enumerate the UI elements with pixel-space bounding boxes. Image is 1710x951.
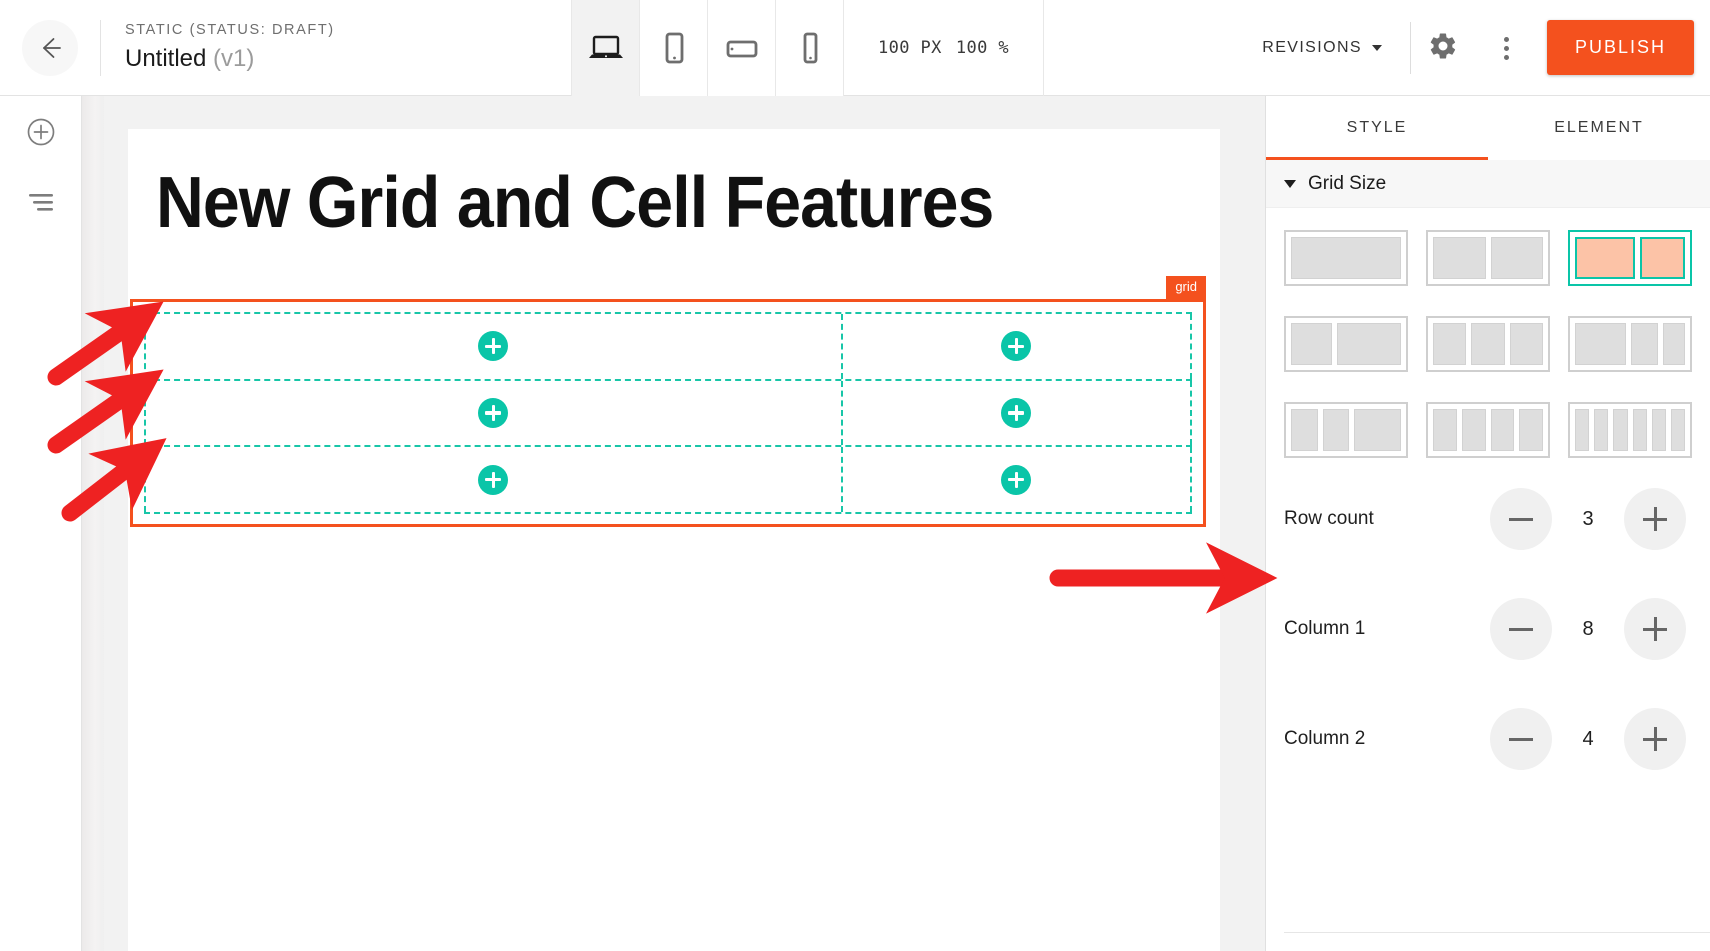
grid-preset-2-equal-columns[interactable]	[1426, 230, 1550, 286]
preset-segment	[1433, 237, 1486, 279]
mobile-icon	[790, 31, 830, 65]
grid-row[interactable]	[144, 379, 1192, 446]
document-name: Untitled	[125, 45, 206, 72]
zoom-indicator[interactable]: 100 PX 100 %	[843, 0, 1044, 96]
preset-segment	[1575, 323, 1626, 365]
back-button[interactable]	[22, 20, 78, 76]
preset-segment	[1291, 237, 1401, 279]
add-cell-content-button[interactable]	[1001, 331, 1031, 361]
add-cell-content-button[interactable]	[478, 465, 508, 495]
toolbar-spacer	[1044, 0, 1234, 95]
column-1-increment-button[interactable]	[1624, 598, 1686, 660]
grid-preset-6-equal-columns[interactable]	[1568, 402, 1692, 458]
top-toolbar: STATIC (STATUS: DRAFT) Untitled (v1)	[0, 0, 1710, 96]
zoom-pixels: 100 PX	[878, 38, 942, 58]
column-2-label: Column 2	[1284, 728, 1490, 750]
properties-panel: STYLE ELEMENT Grid Size	[1265, 96, 1710, 951]
editor-canvas[interactable]: New Grid and Cell Features grid	[82, 96, 1265, 951]
minus-icon	[1509, 518, 1533, 521]
grid-cell[interactable]	[841, 447, 1192, 512]
plus-icon-vertical	[1654, 617, 1657, 641]
grid-preset-3-equal-columns[interactable]	[1426, 316, 1550, 372]
minus-icon	[1509, 628, 1533, 631]
device-laptop-button[interactable]	[571, 0, 639, 96]
revisions-dropdown[interactable]: REVISIONS	[1234, 0, 1410, 95]
add-cell-content-button[interactable]	[478, 398, 508, 428]
grid-preset-3-columns-wide-first[interactable]	[1568, 316, 1692, 372]
column-1-label: Column 1	[1284, 618, 1490, 640]
add-cell-content-button[interactable]	[1001, 465, 1031, 495]
preset-segment	[1631, 323, 1658, 365]
preset-segment	[1491, 409, 1515, 451]
grid-preset-3-columns-wide-last[interactable]	[1284, 402, 1408, 458]
column-2-decrement-button[interactable]	[1490, 708, 1552, 770]
preset-segment	[1652, 409, 1666, 451]
page-heading[interactable]: New Grid and Cell Features	[156, 167, 993, 239]
preset-segment	[1471, 323, 1504, 365]
preset-segment	[1613, 409, 1627, 451]
grid-element-selected[interactable]: grid	[130, 299, 1206, 527]
settings-button[interactable]	[1411, 0, 1475, 96]
back-button-wrap	[0, 0, 100, 95]
grid-cells-wrap	[144, 312, 1192, 514]
grid-cell[interactable]	[144, 381, 841, 446]
column-2-value: 4	[1552, 728, 1624, 751]
preset-segment	[1491, 237, 1544, 279]
preset-segment	[1291, 323, 1332, 365]
kebab-menu-icon	[1504, 37, 1509, 60]
document-status-kicker: STATIC (STATUS: DRAFT)	[125, 20, 571, 42]
grid-preset-2-columns-wide-narrow[interactable]	[1568, 230, 1692, 286]
preset-segment	[1433, 409, 1457, 451]
preset-segment	[1671, 409, 1685, 451]
canvas-scrollbar[interactable]	[82, 96, 104, 951]
grid-cell[interactable]	[841, 314, 1192, 379]
page-title: Untitled (v1)	[125, 43, 571, 75]
document-version: (v1)	[213, 45, 254, 72]
tab-style[interactable]: STYLE	[1266, 96, 1488, 160]
grid-row[interactable]	[144, 312, 1192, 379]
row-count-label: Row count	[1284, 508, 1490, 530]
minus-icon	[1509, 738, 1533, 741]
chevron-down-icon	[1372, 45, 1382, 51]
page-surface[interactable]: New Grid and Cell Features grid	[128, 129, 1220, 951]
more-options-button[interactable]	[1475, 0, 1539, 96]
gear-icon	[1428, 31, 1458, 66]
row-count-decrement-button[interactable]	[1490, 488, 1552, 550]
publish-button-wrap: PUBLISH	[1539, 0, 1710, 95]
tab-style-label: STYLE	[1347, 119, 1408, 137]
grid-cell[interactable]	[841, 381, 1192, 446]
grid-preset-2-columns-narrow-wide[interactable]	[1284, 316, 1408, 372]
preset-segment	[1633, 409, 1647, 451]
grid-preset-1-column[interactable]	[1284, 230, 1408, 286]
tab-element[interactable]: ELEMENT	[1488, 96, 1710, 160]
plus-icon-vertical	[1654, 727, 1657, 751]
tablet-landscape-icon	[722, 31, 762, 65]
grid-row[interactable]	[144, 445, 1192, 514]
document-title-block: STATIC (STATUS: DRAFT) Untitled (v1)	[101, 0, 571, 95]
preset-segment	[1354, 409, 1401, 451]
element-type-badge: grid	[1166, 276, 1206, 299]
add-cell-content-button[interactable]	[1001, 398, 1031, 428]
panel-bottom-divider	[1284, 932, 1710, 933]
grid-preset-list	[1266, 208, 1710, 464]
plus-icon-vertical	[1654, 507, 1657, 531]
device-tablet-portrait-button[interactable]	[639, 0, 707, 96]
arrow-left-icon	[36, 34, 64, 62]
tablet-portrait-icon	[654, 31, 694, 65]
add-element-button[interactable]	[17, 110, 65, 158]
preset-segment	[1663, 323, 1685, 365]
column-2-increment-button[interactable]	[1624, 708, 1686, 770]
preset-segment	[1575, 409, 1589, 451]
column-1-stepper: Column 1 8	[1266, 574, 1710, 684]
add-cell-content-button[interactable]	[478, 331, 508, 361]
revisions-label: REVISIONS	[1262, 39, 1362, 57]
grid-cell[interactable]	[144, 314, 841, 379]
grid-preset-4-equal-columns[interactable]	[1426, 402, 1550, 458]
preset-segment	[1462, 409, 1486, 451]
layout-outline-button[interactable]	[17, 180, 65, 228]
preset-segment	[1433, 323, 1466, 365]
preset-segment	[1519, 409, 1543, 451]
grid-size-section-header[interactable]: Grid Size	[1266, 160, 1710, 208]
row-count-value: 3	[1552, 508, 1624, 531]
row-count-increment-button[interactable]	[1624, 488, 1686, 550]
tab-element-label: ELEMENT	[1554, 119, 1644, 137]
preset-segment	[1640, 237, 1685, 279]
plus-circle-icon	[26, 117, 56, 152]
caret-down-icon	[1284, 180, 1296, 188]
column-2-stepper: Column 2 4	[1266, 684, 1710, 794]
grid-cell[interactable]	[144, 447, 841, 512]
preset-segment	[1337, 323, 1401, 365]
left-tool-rail	[0, 96, 82, 951]
column-1-decrement-button[interactable]	[1490, 598, 1552, 660]
row-count-stepper: Row count 3	[1266, 464, 1710, 574]
laptop-icon	[586, 31, 626, 65]
align-lines-icon	[26, 190, 56, 219]
device-tablet-landscape-button[interactable]	[707, 0, 775, 96]
preset-segment	[1594, 409, 1608, 451]
device-mobile-button[interactable]	[775, 0, 843, 96]
grid-size-section-title: Grid Size	[1308, 173, 1386, 195]
column-1-value: 8	[1552, 618, 1624, 641]
preset-segment	[1323, 409, 1350, 451]
preset-segment	[1291, 409, 1318, 451]
device-preview-switcher	[571, 0, 843, 96]
panel-tabs: STYLE ELEMENT	[1266, 96, 1710, 160]
preset-segment	[1510, 323, 1543, 365]
publish-button[interactable]: PUBLISH	[1547, 20, 1694, 75]
zoom-percent: 100 %	[956, 38, 1009, 58]
preset-segment	[1575, 237, 1635, 279]
